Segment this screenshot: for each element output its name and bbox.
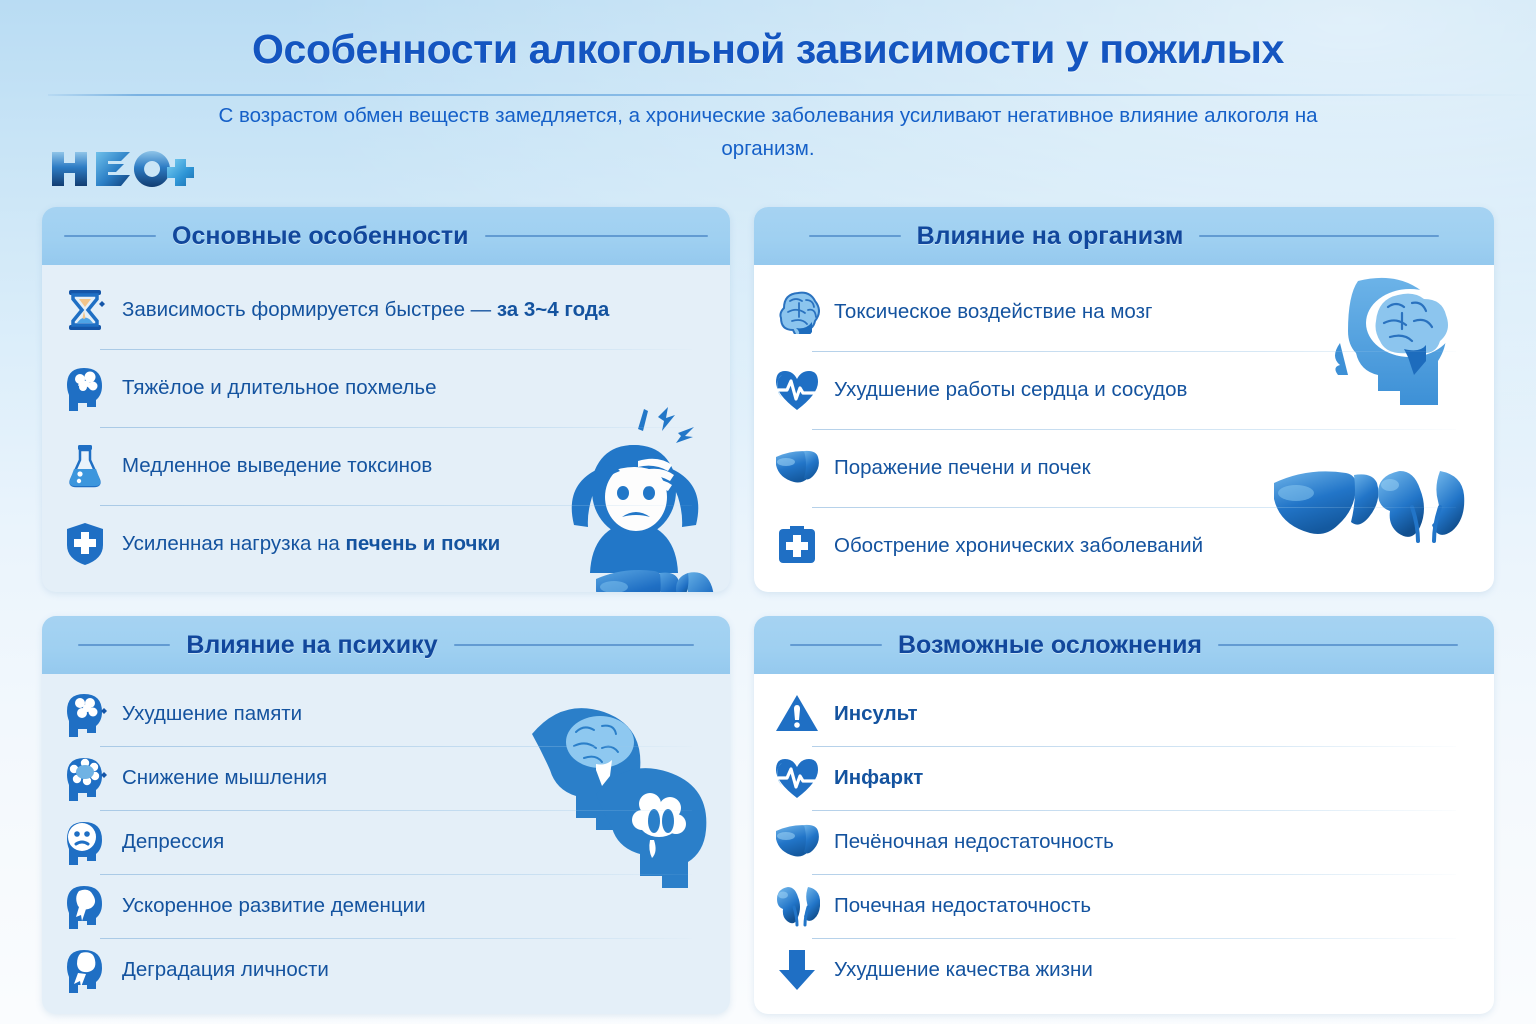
list-item[interactable]: Обострение хронических заболеваний [774, 507, 1474, 585]
list-item-label: Зависимость формируется быстрее — за 3~4… [122, 297, 609, 323]
list-item-label: Токсическое воздействие на мозг [834, 299, 1152, 325]
header-rule-right [485, 235, 708, 237]
page-header: Особенности алкогольной зависимости у по… [0, 0, 1536, 166]
list-item[interactable]: Поражение печени и почек [774, 429, 1474, 507]
list-item[interactable]: Медленное выведение токсинов [62, 427, 710, 505]
page-subtitle: С возрастом обмен веществ замедляется, а… [188, 99, 1348, 165]
head-degradation-icon [62, 947, 108, 993]
page-title: Особенности алкогольной зависимости у по… [0, 26, 1536, 73]
card-body-effects: Влияние на организм [754, 207, 1494, 592]
list-item[interactable]: Деградация личности [62, 938, 710, 1002]
list-item-label: Почечная недостаточность [834, 893, 1091, 919]
header-rule-left [809, 235, 901, 237]
header-rule-right [454, 644, 694, 646]
card-header: Влияние на организм [754, 207, 1494, 265]
head-sad-icon [62, 819, 108, 865]
list-item-label: Усиленная нагрузка на печень и почки [122, 531, 500, 557]
card-title: Возможные осложнения [898, 631, 1202, 660]
card-header: Влияние на психику [42, 616, 730, 674]
head-thinking-icon [62, 755, 108, 801]
kidneys-icon [774, 883, 820, 929]
neo-plus-logo [48, 147, 198, 191]
list-item[interactable]: Тяжёлое и длительное похмелье [62, 349, 710, 427]
list-item[interactable]: Депрессия [62, 810, 710, 874]
list-item[interactable]: Ухудшение качества жизни [774, 938, 1474, 1002]
header-rule-left [64, 235, 156, 237]
list-item-label: Ухудшение памяти [122, 701, 302, 727]
list-item-label: Медленное выведение токсинов [122, 453, 432, 479]
list-item[interactable]: Ухудшение памяти [62, 682, 710, 746]
list-item-label: Деградация личности [122, 957, 329, 983]
list-item[interactable]: Усиленная нагрузка на печень и почки [62, 505, 710, 583]
cards-grid: Основные особенности [42, 207, 1494, 1014]
card-body: Ухудшение памяти [42, 674, 730, 1014]
card-title: Влияние на психику [186, 631, 437, 660]
header-rule-right [1218, 644, 1458, 646]
header-rule-right [1199, 235, 1439, 237]
list-item[interactable]: Печёночная недостаточность [774, 810, 1474, 874]
list-item[interactable]: Снижение мышления [62, 746, 710, 810]
liver-icon [774, 819, 820, 865]
list-item-label: Ухудшение работы сердца и сосудов [834, 377, 1187, 403]
hourglass-icon [62, 287, 108, 333]
card-header: Возможные осложнения [754, 616, 1494, 674]
card-title: Влияние на организм [917, 222, 1184, 251]
card-psyche: Влияние на психику [42, 616, 730, 1014]
list-item[interactable]: Инсульт [774, 682, 1474, 746]
list-item-label: Ухудшение качества жизни [834, 957, 1093, 983]
arrow-down-icon [774, 947, 820, 993]
list-item-label: Депрессия [122, 829, 224, 855]
list-item[interactable]: Зависимость формируется быстрее — за 3~4… [62, 271, 710, 349]
list-item[interactable]: Токсическое воздействие на мозг [774, 273, 1474, 351]
card-header: Основные особенности [42, 207, 730, 265]
head-dementia-icon [62, 883, 108, 929]
list-item-label: Обострение хронических заболеваний [834, 533, 1203, 559]
heart-pulse-icon [774, 367, 820, 413]
liver-icon [774, 445, 820, 491]
header-divider [48, 94, 1536, 96]
list-item-label: Поражение печени и почек [834, 455, 1091, 481]
shield-cross-icon [62, 521, 108, 567]
list-item-label: Снижение мышления [122, 765, 327, 791]
card-body: Токсическое воздействие на мозг Ухудшени… [754, 265, 1494, 592]
flask-icon [62, 443, 108, 489]
list-item[interactable]: Ускоренное развитие деменции [62, 874, 710, 938]
list-item-label: Печёночная недостаточность [834, 829, 1114, 855]
list-item[interactable]: Инфаркт [774, 746, 1474, 810]
card-body: Зависимость формируется быстрее — за 3~4… [42, 265, 730, 592]
list-item-label: Тяжёлое и длительное похмелье [122, 375, 437, 401]
header-rule-left [790, 644, 882, 646]
list-item-label: Ускоренное развитие деменции [122, 893, 426, 919]
card-main-features: Основные особенности [42, 207, 730, 592]
card-body: Инсульт Инфаркт [754, 674, 1494, 1014]
head-memory-icon [62, 691, 108, 737]
medical-cross-icon [774, 523, 820, 569]
header-rule-left [78, 644, 170, 646]
head-hangover-icon [62, 365, 108, 411]
brain-icon [774, 289, 820, 335]
list-item[interactable]: Почечная недостаточность [774, 874, 1474, 938]
list-item-label: Инфаркт [834, 765, 923, 791]
card-title: Основные особенности [172, 222, 469, 251]
warning-triangle-icon [774, 691, 820, 737]
list-item[interactable]: Ухудшение работы сердца и сосудов [774, 351, 1474, 429]
list-item-label: Инсульт [834, 701, 918, 727]
card-complications: Возможные осложнения Инсульт [754, 616, 1494, 1014]
heart-pulse-icon [774, 755, 820, 801]
